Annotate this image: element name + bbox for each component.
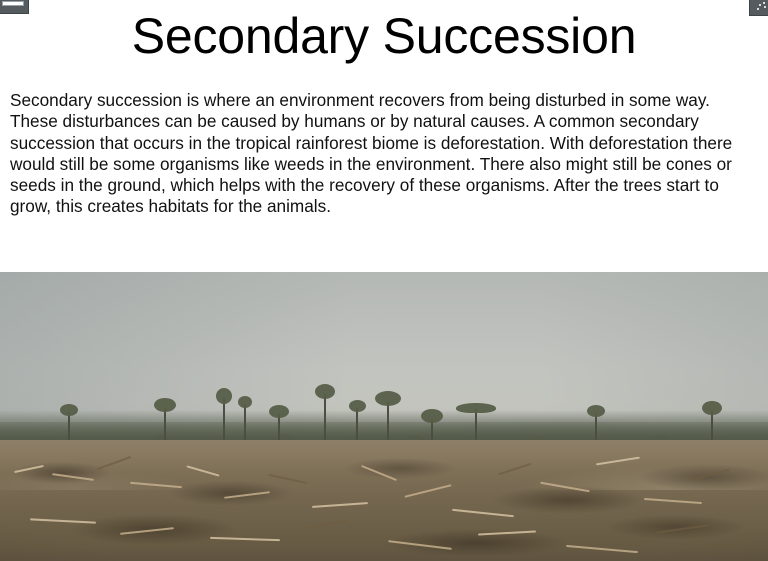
chrome-pixel [764, 6, 766, 8]
photo-tree [313, 384, 337, 446]
chrome-pixel [757, 8, 759, 10]
deforestation-photo [0, 272, 768, 561]
photo-tree [374, 390, 402, 446]
photo-tree [214, 388, 234, 446]
chrome-pixel [763, 2, 765, 4]
body-paragraph: Secondary succession is where an environ… [10, 90, 762, 218]
photo-tree [236, 396, 254, 446]
page-title: Secondary Succession [0, 4, 768, 68]
top-left-chrome-fragment[interactable] [0, 0, 29, 14]
chrome-input-strip [2, 1, 24, 6]
photo-soil-texture [0, 448, 768, 561]
slide-canvas: Secondary Succession Secondary successio… [0, 0, 768, 561]
photo-tree [152, 398, 178, 446]
top-right-chrome-fragment[interactable] [749, 0, 768, 16]
chrome-pixel [759, 4, 761, 6]
